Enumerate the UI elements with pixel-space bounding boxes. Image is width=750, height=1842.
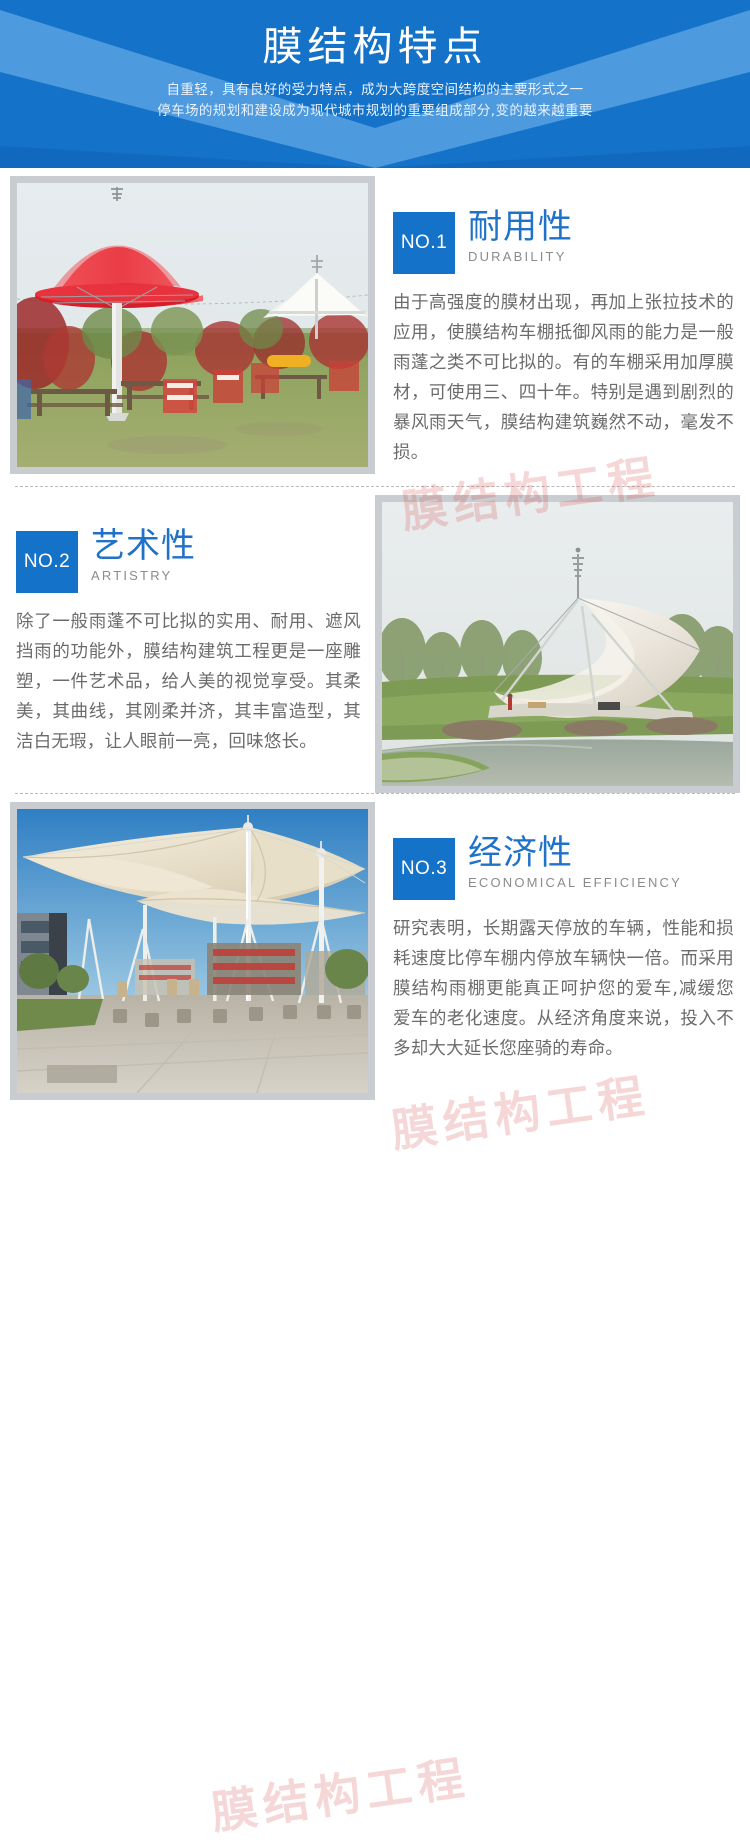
feature-section-artistry: NO.2 艺术性 ARTISTRY 除了一般雨蓬不可比拟的实用、耐用、遮风挡雨的… <box>0 487 750 793</box>
photo-column <box>10 168 375 474</box>
photo-frame <box>375 495 740 793</box>
photo-white-sail-canopy <box>382 502 733 786</box>
watermark-text: 膜结构工程 <box>207 1741 474 1842</box>
heading-text: 经济性 ECONOMICAL EFFICIENCY <box>468 838 682 890</box>
badge-no-3: NO.3 <box>393 838 455 900</box>
feature-title-en: ARTISTRY <box>91 568 196 583</box>
page-banner: 膜结构特点 自重轻，具有良好的受力特点，成为大跨度空间结构的主要形式之一 停车场… <box>0 0 750 168</box>
photo-frame <box>10 176 375 474</box>
feature-title-cn: 经济性 <box>468 833 682 873</box>
photo-membrane-carport <box>17 809 368 1093</box>
feature-heading: NO.2 艺术性 ARTISTRY <box>16 531 361 593</box>
feature-heading: NO.3 经济性 ECONOMICAL EFFICIENCY <box>393 838 734 900</box>
feature-title-en: DURABILITY <box>468 249 573 264</box>
banner-subtitle: 自重轻，具有良好的受力特点，成为大跨度空间结构的主要形式之一 停车场的规划和建设… <box>65 80 685 122</box>
section-row: NO.1 耐用性 DURABILITY 由于高强度的膜材出现，再加上张拉技术的应… <box>0 168 750 486</box>
text-column: NO.1 耐用性 DURABILITY 由于高强度的膜材出现，再加上张拉技术的应… <box>375 168 740 486</box>
feature-heading: NO.1 耐用性 DURABILITY <box>393 212 734 274</box>
banner-subtitle-line-2: 停车场的规划和建设成为现代城市规划的重要组成部分,变的越来越重要 <box>65 101 685 122</box>
text-column: NO.2 艺术性 ARTISTRY 除了一般雨蓬不可比拟的实用、耐用、遮风挡雨的… <box>10 487 375 775</box>
section-row: NO.2 艺术性 ARTISTRY 除了一般雨蓬不可比拟的实用、耐用、遮风挡雨的… <box>0 487 750 793</box>
feature-title-cn: 耐用性 <box>468 207 573 247</box>
photo-red-canopy <box>17 183 368 467</box>
photo-column <box>375 487 740 793</box>
heading-text: 耐用性 DURABILITY <box>468 212 573 264</box>
feature-title-cn: 艺术性 <box>91 526 196 566</box>
feature-body-text: 除了一般雨蓬不可比拟的实用、耐用、遮风挡雨的功能外，膜结构建筑工程更是一座雕塑，… <box>16 607 361 757</box>
heading-text: 艺术性 ARTISTRY <box>91 531 196 583</box>
banner-subtitle-line-1: 自重轻，具有良好的受力特点，成为大跨度空间结构的主要形式之一 <box>65 80 685 101</box>
badge-no-2: NO.2 <box>16 531 78 593</box>
badge-no-1: NO.1 <box>393 212 455 274</box>
photo-column <box>10 794 375 1100</box>
page-title: 膜结构特点 <box>0 0 750 72</box>
feature-body-text: 研究表明，长期露天停放的车辆，性能和损耗速度比停车棚内停放车辆快一倍。而采用膜结… <box>393 914 734 1064</box>
feature-section-durability: NO.1 耐用性 DURABILITY 由于高强度的膜材出现，再加上张拉技术的应… <box>0 168 750 486</box>
section-row: NO.3 经济性 ECONOMICAL EFFICIENCY 研究表明，长期露天… <box>0 794 750 1100</box>
feature-section-economical: NO.3 经济性 ECONOMICAL EFFICIENCY 研究表明，长期露天… <box>0 794 750 1100</box>
feature-title-en: ECONOMICAL EFFICIENCY <box>468 875 682 890</box>
text-column: NO.3 经济性 ECONOMICAL EFFICIENCY 研究表明，长期露天… <box>375 794 740 1082</box>
feature-body-text: 由于高强度的膜材出现，再加上张拉技术的应用，使膜结构车棚抵御风雨的能力是一般雨蓬… <box>393 288 734 468</box>
photo-frame <box>10 802 375 1100</box>
